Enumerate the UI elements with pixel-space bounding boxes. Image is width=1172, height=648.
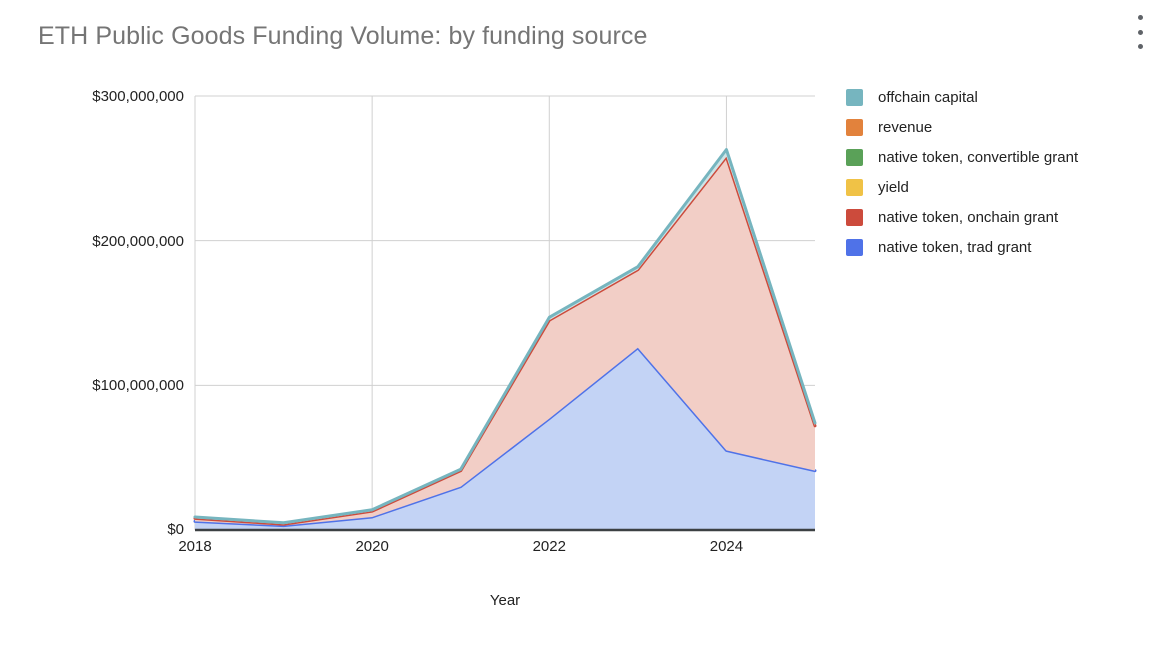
legend-item[interactable]: yield	[846, 178, 1156, 197]
menu-dot	[1138, 15, 1143, 20]
y-axis-tick-label: $0	[34, 521, 184, 538]
legend-item-label: native token, trad grant	[878, 238, 1031, 257]
legend-item-label: offchain capital	[878, 88, 978, 107]
menu-dot	[1138, 30, 1143, 35]
legend-item[interactable]: revenue	[846, 118, 1156, 137]
menu-dot	[1138, 44, 1143, 49]
legend-item-label: yield	[878, 178, 909, 197]
legend-item-label: native token, convertible grant	[878, 148, 1078, 167]
legend-item-label: revenue	[878, 118, 932, 137]
y-axis-tick-label: $200,000,000	[34, 233, 184, 250]
area-chart-svg	[195, 96, 815, 530]
legend-swatch-icon	[846, 239, 863, 256]
legend-swatch-icon	[846, 89, 863, 106]
plot-area	[195, 96, 815, 530]
page-title: ETH Public Goods Funding Volume: by fund…	[38, 22, 648, 51]
chart-legend: offchain capitalrevenuenative token, con…	[846, 88, 1156, 268]
legend-item-label: native token, onchain grant	[878, 208, 1058, 227]
y-axis-tick-label: $100,000,000	[34, 377, 184, 394]
x-axis-tick-label: 2018	[155, 538, 235, 555]
x-axis-title: Year	[195, 592, 815, 609]
legend-swatch-icon	[846, 119, 863, 136]
x-axis-tick-label: 2020	[332, 538, 412, 555]
chart-page: ETH Public Goods Funding Volume: by fund…	[0, 0, 1172, 648]
legend-swatch-icon	[846, 209, 863, 226]
legend-swatch-icon	[846, 179, 863, 196]
x-axis-tick-label: 2024	[686, 538, 766, 555]
legend-item[interactable]: native token, trad grant	[846, 238, 1156, 257]
x-axis-tick-label: 2022	[509, 538, 589, 555]
legend-item[interactable]: native token, onchain grant	[846, 208, 1156, 227]
y-axis-tick-label: $300,000,000	[34, 88, 184, 105]
legend-swatch-icon	[846, 149, 863, 166]
legend-item[interactable]: native token, convertible grant	[846, 148, 1156, 167]
kebab-menu-icon[interactable]	[1130, 12, 1150, 52]
legend-item[interactable]: offchain capital	[846, 88, 1156, 107]
